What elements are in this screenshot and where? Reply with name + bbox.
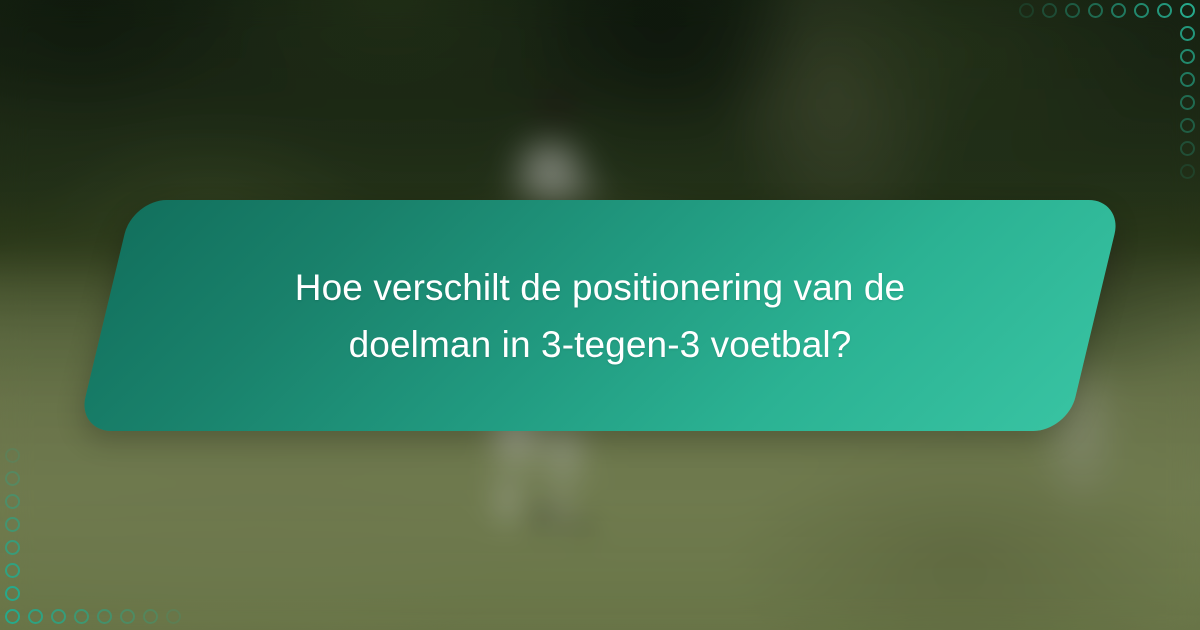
dot-grid-bottom-left	[0, 446, 184, 630]
decor-dot	[1019, 3, 1034, 18]
decor-dot	[1180, 3, 1195, 18]
question-card-canvas: Hoe verschilt de positionering van de do…	[0, 0, 1200, 630]
question-text-block: Hoe verschilt de positionering van de do…	[105, 200, 1095, 431]
decor-dot	[51, 609, 66, 624]
decor-dot	[143, 609, 158, 624]
decor-dot	[5, 494, 20, 509]
decor-dot	[1180, 141, 1195, 156]
decor-dot	[5, 448, 20, 463]
dot-grid-top-right	[1016, 0, 1200, 184]
decor-dot	[1180, 164, 1195, 179]
decor-dot	[5, 471, 20, 486]
decor-dot	[1180, 118, 1195, 133]
decor-dot	[5, 517, 20, 532]
decor-dot	[1065, 3, 1080, 18]
decor-dot	[1111, 3, 1126, 18]
decor-dot	[74, 609, 89, 624]
decor-dot	[1180, 72, 1195, 87]
decor-dot	[5, 563, 20, 578]
decor-dot	[5, 609, 20, 624]
question-line-2: doelman in 3-tegen-3 voetbal?	[349, 316, 852, 373]
decor-dot	[166, 609, 181, 624]
decor-dot	[1042, 3, 1057, 18]
decor-dot	[120, 609, 135, 624]
decor-dot	[1180, 49, 1195, 64]
decor-dot	[1157, 3, 1172, 18]
decor-dot	[28, 609, 43, 624]
decor-dot	[1134, 3, 1149, 18]
question-card: Hoe verschilt de positionering van de do…	[105, 200, 1095, 431]
decor-dot	[1180, 95, 1195, 110]
decor-dot	[5, 540, 20, 555]
decor-dot	[5, 586, 20, 601]
decor-dot	[97, 609, 112, 624]
question-line-1: Hoe verschilt de positionering van de	[295, 259, 905, 316]
decor-dot	[1180, 26, 1195, 41]
decor-dot	[1088, 3, 1103, 18]
